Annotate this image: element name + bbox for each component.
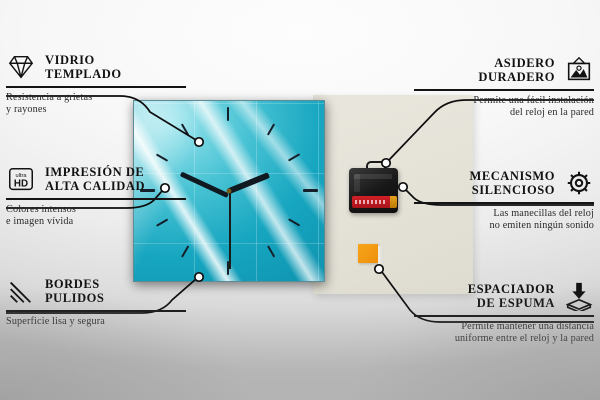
foam-spacer-side: [378, 246, 384, 265]
feature-description-line2: del reloj en la pared: [382, 107, 594, 119]
polished-edges-icon: [6, 276, 36, 306]
feature-description-line2: uniforme entre el reloj y la pared: [382, 333, 594, 345]
foam-spacer: [358, 244, 378, 263]
feature-divider: [6, 310, 186, 312]
feature-divider: [414, 202, 594, 204]
feature-header: MECANISMO SILENCIOSO: [382, 168, 594, 198]
feature-description-line2: y rayones: [6, 104, 218, 116]
feature-title: IMPRESIÓN DE ALTA CALIDAD: [45, 165, 145, 194]
clock-hand-second: [229, 191, 231, 269]
feature-title: VIDRIO TEMPLADO: [45, 53, 122, 82]
feature-description-line1: Permite una fácil instalación: [382, 95, 594, 107]
hanging-frame-icon: [564, 55, 594, 85]
feature-header: BORDES PULIDOS: [6, 276, 218, 306]
feature-description-line1: Las manecillas del reloj: [382, 208, 594, 220]
clock-tick-4: [288, 218, 300, 226]
feature-title: MECANISMO SILENCIOSO: [469, 169, 555, 198]
feature-title: BORDES PULIDOS: [45, 277, 104, 306]
feature-title: ESPACIADOR DE ESPUMA: [468, 282, 555, 311]
feature-divider: [414, 315, 594, 317]
feature-description-line2: no emiten ningún sonido: [382, 220, 594, 232]
clock-tick-1: [267, 123, 275, 135]
diamond-icon: [6, 52, 36, 82]
infographic-canvas: VIDRIO TEMPLADO Resistencia a grietas y …: [0, 0, 600, 400]
clock-tick-2: [288, 153, 300, 161]
clock-tick-12: [227, 107, 229, 121]
foam-spacer-icon: [564, 281, 594, 311]
feature-espaciador-de-espuma: ESPACIADOR DE ESPUMA Permite mantener un…: [382, 281, 594, 345]
feature-mecanismo-silencioso: MECANISMO SILENCIOSO Las manecillas del …: [382, 168, 594, 232]
feature-header: ultra HD IMPRESIÓN DE ALTA CALIDAD: [6, 164, 218, 194]
feature-description-line2: e imagen vívida: [6, 216, 218, 228]
clock-tick-5: [267, 245, 275, 257]
ultra-hd-icon: ultra HD: [6, 164, 36, 194]
feature-bordes-pulidos: BORDES PULIDOS Superficie lisa y segura: [6, 276, 218, 328]
svg-text:HD: HD: [14, 179, 28, 190]
clock-tick-11: [181, 123, 189, 135]
feature-description-line1: Resistencia a grietas: [6, 92, 218, 104]
feature-description-line1: Permite mantener una distancia: [382, 321, 594, 333]
feature-description-line1: Superficie lisa y segura: [6, 316, 218, 328]
feature-header: ASIDERO DURADERO: [382, 55, 594, 85]
feature-header: ESPACIADOR DE ESPUMA: [382, 281, 594, 311]
clock-tick-3: [303, 189, 318, 192]
feature-divider: [6, 86, 186, 88]
feature-impresion-alta-calidad: ultra HD IMPRESIÓN DE ALTA CALIDAD Color…: [6, 164, 218, 228]
gear-icon: [564, 168, 594, 198]
clock-hand-hour: [227, 172, 270, 194]
feature-title: ASIDERO DURADERO: [478, 56, 555, 85]
feature-asidero-duradero: ASIDERO DURADERO Permite una fácil insta…: [382, 55, 594, 119]
feature-description-line1: Colores intensos: [6, 204, 218, 216]
clock-tick-7: [181, 245, 189, 257]
feature-divider: [414, 89, 594, 91]
clock-center-pin: [227, 189, 232, 194]
clock-tick-10: [156, 153, 168, 161]
feature-vidrio-templado: VIDRIO TEMPLADO Resistencia a grietas y …: [6, 52, 218, 116]
feature-divider: [6, 198, 186, 200]
feature-header: VIDRIO TEMPLADO: [6, 52, 218, 82]
